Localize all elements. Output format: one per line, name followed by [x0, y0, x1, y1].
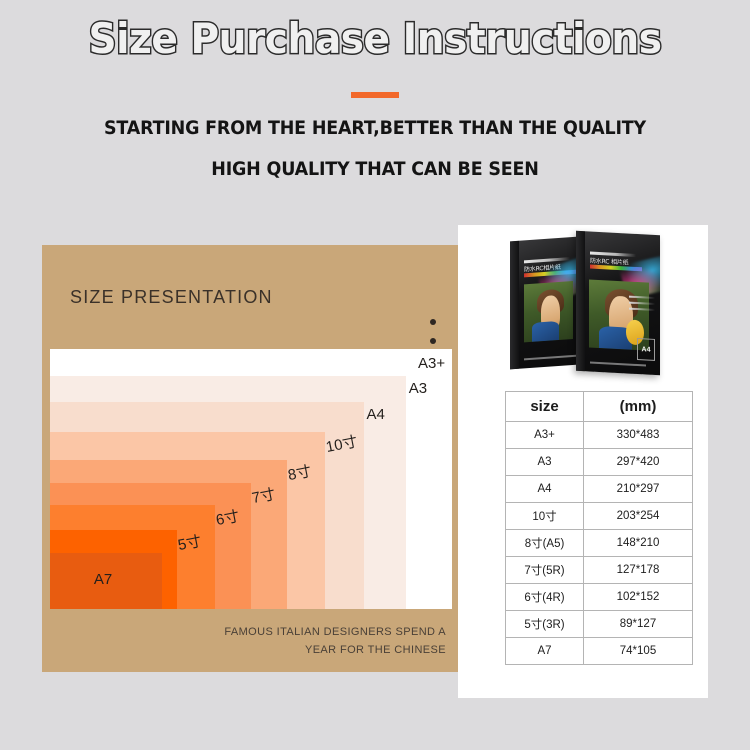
box-feature-bullet: [629, 302, 655, 305]
size-band-label: A7: [94, 571, 112, 588]
photo-jacket: [532, 321, 559, 341]
subtitle-line-2: HIGH QUALITY THAT CAN BE SEEN: [30, 158, 720, 180]
box-feature-bullet: [629, 296, 655, 299]
box-spine: [576, 231, 585, 371]
cell-size: A4: [506, 476, 584, 503]
box-feature-bullet: [629, 308, 655, 311]
size-presentation-panel: SIZE PRESENTATION A3+A3A410寸8寸7寸6寸5寸A7 F…: [42, 245, 460, 672]
box-feature-bullets: [629, 296, 655, 315]
cell-size: 7寸(5R): [506, 557, 584, 584]
size-band-label: 5寸: [176, 530, 203, 555]
size-table-header-row: size (mm): [506, 392, 693, 422]
size-comparison-diagram: A3+A3A410寸8寸7寸6寸5寸A7: [50, 349, 452, 609]
table-row: 6寸(4R)102*152: [506, 584, 693, 611]
column-header-size: size: [506, 392, 584, 422]
size-band-label: 6寸: [214, 505, 241, 530]
decorative-dot-icon: [430, 319, 436, 325]
cell-size: A7: [506, 638, 584, 665]
size-band-label: 7寸: [250, 483, 277, 508]
table-row: 7寸(5R)127*178: [506, 557, 693, 584]
panel-caption-line-2: YEAR FOR THE CHINESE: [146, 641, 446, 659]
table-row: 5寸(3R)89*127: [506, 611, 693, 638]
box-footer-line: [590, 362, 646, 367]
size-band-label: A4: [367, 406, 385, 423]
box-size-badge: A4: [637, 338, 655, 361]
box-cover-photo: [524, 281, 573, 342]
cell-mm: 74*105: [584, 638, 693, 665]
panel-caption: FAMOUS ITALIAN DESIGNERS SPEND A YEAR FO…: [146, 623, 446, 659]
table-row: 10寸203*254: [506, 503, 693, 530]
box-spine: [510, 241, 519, 370]
subtitle-line-1: STARTING FROM THE HEART,BETTER THAN THE …: [30, 117, 720, 139]
photo-paper-box-front: 防水RC 相片纸 A4: [576, 231, 660, 375]
cell-mm: 89*127: [584, 611, 693, 638]
size-panel-title: SIZE PRESENTATION: [70, 287, 273, 308]
size-table: size (mm) A3+330*483A3297*420A4210*29710…: [505, 391, 693, 665]
size-band-label: A3: [409, 380, 427, 397]
cell-size: A3: [506, 449, 584, 476]
cell-mm: 297*420: [584, 449, 693, 476]
table-row: 8寸(A5)148*210: [506, 530, 693, 557]
table-row: A774*105: [506, 638, 693, 665]
product-image: 防水RC相片纸 防水RC 相片纸: [458, 225, 708, 380]
cell-size: A3+: [506, 422, 584, 449]
header: Size Purchase Instructions STARTING FROM…: [0, 0, 750, 200]
cell-size: 8寸(A5): [506, 530, 584, 557]
table-row: A3+330*483: [506, 422, 693, 449]
cell-mm: 127*178: [584, 557, 693, 584]
product-card: 防水RC相片纸 防水RC 相片纸: [458, 225, 708, 698]
table-row: A3297*420: [506, 449, 693, 476]
box-footer-line: [524, 354, 578, 360]
title-divider: [351, 92, 399, 98]
table-row: A4210*297: [506, 476, 693, 503]
panel-caption-line-1: FAMOUS ITALIAN DESIGNERS SPEND A: [146, 623, 446, 641]
cell-size: 5寸(3R): [506, 611, 584, 638]
size-band-label: A3+: [418, 355, 445, 372]
photo-paper-box-back: 防水RC相片纸: [510, 237, 578, 370]
cell-mm: 148*210: [584, 530, 693, 557]
column-header-mm: (mm): [584, 392, 693, 422]
cell-size: 10寸: [506, 503, 584, 530]
size-band-label: 8寸: [286, 459, 313, 484]
cell-mm: 203*254: [584, 503, 693, 530]
size-table-head: size (mm): [506, 392, 693, 422]
size-table-body: A3+330*483A3297*420A4210*29710寸203*2548寸…: [506, 422, 693, 665]
cell-size: 6寸(4R): [506, 584, 584, 611]
cell-mm: 330*483: [584, 422, 693, 449]
decorative-dot-icon: [430, 338, 436, 344]
cell-mm: 210*297: [584, 476, 693, 503]
cell-mm: 102*152: [584, 584, 693, 611]
page-title: Size Purchase Instructions: [26, 14, 724, 63]
